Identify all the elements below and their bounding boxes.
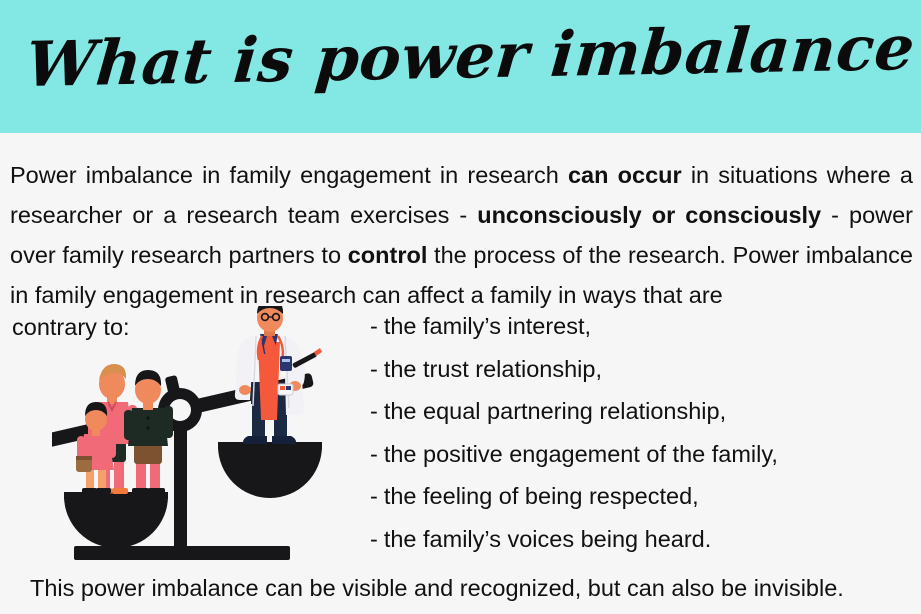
paragraph-emphasis-can-occur: can occur (568, 162, 682, 188)
intro-paragraph: Power imbalance in family engagement in … (10, 155, 913, 315)
paragraph-emphasis-control: control (348, 242, 428, 268)
family-teen-green (124, 370, 173, 494)
list-item: -the family’s voices being heard. (370, 518, 915, 561)
list-item: -the feeling of being respected, (370, 475, 915, 518)
list-item-label: the trust relationship, (384, 356, 602, 382)
closing-sentence: This power imbalance can be visible and … (30, 572, 844, 604)
bullet-dash: - (370, 526, 378, 552)
paragraph-segment-1: Power imbalance in family engagement in … (10, 162, 568, 188)
left-pan (64, 492, 168, 548)
header-band: What is power imbalance in research? (0, 0, 921, 133)
balance-scale-illustration (52, 306, 352, 568)
list-item: -the trust relationship, (370, 348, 915, 391)
bullet-dash: - (370, 313, 378, 339)
bullet-dash: - (370, 483, 378, 509)
list-item-label: the feeling of being respected, (384, 483, 699, 509)
list-item: -the positive engagement of the family, (370, 433, 915, 476)
list-item-label: the family’s voices being heard. (384, 526, 711, 552)
list-item-label: the equal partnering relationship, (384, 398, 726, 424)
infographic-poster: What is power imbalance in research? Pow… (0, 0, 921, 614)
list-item: -the equal partnering relationship, (370, 390, 915, 433)
list-item-label: the family’s interest, (384, 313, 591, 339)
list-item-label: the positive engagement of the family, (384, 441, 778, 467)
right-pan (218, 442, 322, 498)
bullet-dash: - (370, 356, 378, 382)
bullet-dash: - (370, 441, 378, 467)
consequences-list: -the family’s interest, -the trust relat… (370, 305, 915, 560)
paragraph-emphasis-unconsciously-consciously: unconsciously or consciously (477, 202, 821, 228)
bullet-dash: - (370, 398, 378, 424)
page-title: What is power imbalance in research? (22, 0, 912, 113)
list-item: -the family’s interest, (370, 305, 915, 348)
family-figures (76, 364, 173, 494)
